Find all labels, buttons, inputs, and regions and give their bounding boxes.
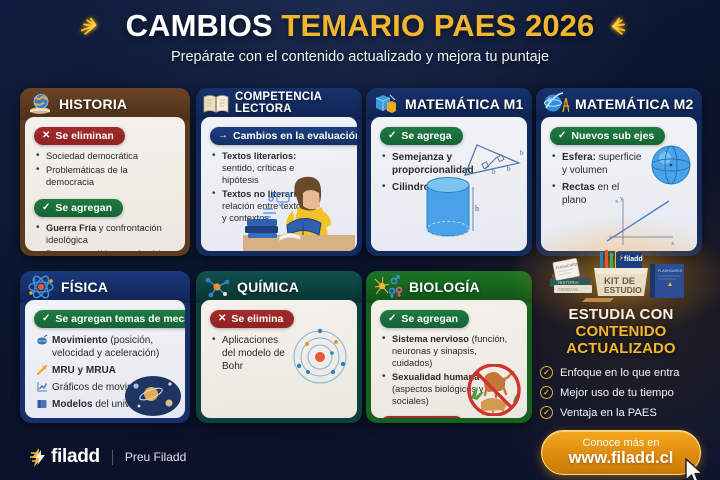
page-subtitle: Prepárate con el contenido actualizado y… xyxy=(0,49,720,65)
card-competencia-lectora[interactable]: COMPETENCIALECTORA → Cambios en la evalu… xyxy=(196,88,362,256)
svg-text:ESTUDIO: ESTUDIO xyxy=(604,285,642,295)
card-header: MATEMÁTICA M2 xyxy=(536,88,702,120)
card-body: ✕ Se elimina Aplicaciones del modelo de … xyxy=(201,300,357,418)
svg-text:CIENCIAS: CIENCIAS xyxy=(558,287,578,292)
title-row: CAMBIOS TEMARIO PAES 2026 xyxy=(0,8,720,44)
bohr-atom-model-illustration xyxy=(291,328,349,386)
chart-icon xyxy=(36,381,48,393)
status-badge-eliminan: ✕ Se eliminan xyxy=(34,127,125,145)
close-icon: ✕ xyxy=(42,131,50,141)
svg-text:HISTORIA: HISTORIA xyxy=(558,280,579,285)
status-badge-elimina: ✕ Se elimina xyxy=(210,310,294,328)
card-body: ✓ Se agregan temas de mecánica Movimient… xyxy=(25,300,185,418)
card-header: HISTORIA xyxy=(20,88,190,120)
card-header: QUÍMICA xyxy=(196,271,362,303)
card-header: MATEMÁTICA M1 xyxy=(366,88,532,120)
close-icon: ✕ xyxy=(218,314,226,324)
footer-note: Preu Filadd xyxy=(125,450,186,464)
card-body: ✕ Se eliminan Sociedad democrática Probl… xyxy=(25,117,185,251)
badge-label: Se elimina xyxy=(231,313,283,325)
globe-book-icon xyxy=(27,92,53,116)
girl-reading-book-illustration xyxy=(243,163,355,251)
badge-label: Se agregan temas de mecánica xyxy=(55,313,185,325)
svg-text:h: h xyxy=(475,204,479,213)
svg-text:FLASHCARDS: FLASHCARDS xyxy=(658,269,683,273)
cylinder-diagram: h xyxy=(417,173,489,247)
benefit-label: Enfoque en lo que entra xyxy=(560,367,679,379)
badge-label: Se eliminan xyxy=(55,130,113,142)
cube-prism-icon xyxy=(373,92,399,116)
list-item: Guerra Fría y confrontación ideológica xyxy=(36,223,177,247)
card-historia[interactable]: HISTORIA ✕ Se eliminan Sociedad democrát… xyxy=(20,88,190,256)
planets-orbit-illustration xyxy=(123,370,183,418)
card-fisica[interactable]: FÍSICA ✓ Se agregan temas de mecánica Mo… xyxy=(20,271,190,423)
svg-text:b: b xyxy=(520,149,524,157)
arrow-right-icon: → xyxy=(218,131,228,141)
filadd-bolt-icon xyxy=(30,448,47,467)
card-title: FÍSICA xyxy=(61,280,108,295)
card-header: FÍSICA xyxy=(20,271,190,303)
list-eliminan: Sociedad democrática Problemáticas de la… xyxy=(36,151,177,189)
card-title: MATEMÁTICA M1 xyxy=(405,97,523,112)
benefit-item: ✓ Enfoque en lo que entra xyxy=(540,366,679,379)
motion-icon xyxy=(36,334,48,346)
svg-text:b: b xyxy=(492,168,496,176)
list-item: Esfera: superficie y volumen xyxy=(552,151,646,177)
status-badge-agrega: ✓ Se agrega xyxy=(380,127,463,145)
badge-label: Se agregan xyxy=(55,202,112,214)
list-item: Aplicaciones del modelo de Bohr xyxy=(212,334,294,373)
atom-icon xyxy=(27,274,55,300)
kit-box-icon: HISTORIA CIENCIAS FLASHCARDS filadd KIT … xyxy=(528,248,714,306)
open-book-icon xyxy=(203,93,229,115)
cta-subtitle: Conoce más en xyxy=(582,438,659,450)
brand-logo-text: filadd xyxy=(51,446,100,468)
card-title: BIOLOGÍA xyxy=(409,280,480,295)
badge-label: Se agregan xyxy=(401,313,458,325)
card-title: QUÍMICA xyxy=(237,280,299,295)
card-body: ✓ Se agregan Sistema nervioso (función, … xyxy=(371,300,527,418)
card-title: COMPETENCIALECTORA xyxy=(235,92,322,116)
benefits-list: ✓ Enfoque en lo que entra ✓ Mejor uso de… xyxy=(528,366,714,419)
status-badge-cambios: → Cambios en la evaluación xyxy=(210,127,357,145)
footer-divider xyxy=(112,450,113,465)
card-title: MATEMÁTICA M2 xyxy=(575,97,693,112)
molecule-icon xyxy=(203,274,231,300)
mouse-cursor-icon xyxy=(684,458,706,480)
page-title-white: CAMBIOS xyxy=(126,8,273,43)
list-item: Movimiento (posición, velocidad y aceler… xyxy=(36,334,177,360)
no-food-chain-illustration xyxy=(465,364,523,416)
card-quimica[interactable]: QUÍMICA ✕ Se elimina Aplicaciones del mo… xyxy=(196,271,362,423)
card-header: COMPETENCIALECTORA xyxy=(196,88,362,120)
check-circle-icon: ✓ xyxy=(540,386,553,399)
card-body: → Cambios en la evaluación Textos litera… xyxy=(201,117,357,251)
sparkle-icon xyxy=(604,8,634,44)
page-header: CAMBIOS TEMARIO PAES 2026 Prepárate con … xyxy=(0,8,720,65)
list-item: Procesos políticos en América Latina xyxy=(36,249,177,251)
sphere-diagram xyxy=(649,143,693,187)
check-circle-icon: ✓ xyxy=(540,366,553,379)
badge-label: Nuevos sub ejes xyxy=(571,130,654,142)
neuron-gender-icon xyxy=(373,274,403,300)
card-title: HISTORIA xyxy=(59,97,127,112)
status-badge-elimina: ✕ Se elimina xyxy=(380,416,464,418)
benefit-label: Ventaja en la PAES xyxy=(560,407,657,419)
svg-text:filadd: filadd xyxy=(624,256,643,263)
page-title: CAMBIOS TEMARIO PAES 2026 xyxy=(126,10,595,43)
cta-url: www.filadd.cl xyxy=(569,449,674,467)
check-circle-icon: ✓ xyxy=(540,406,553,419)
svg-text:x: x xyxy=(615,198,619,205)
sphere-icon xyxy=(543,92,569,116)
status-badge-subejes: ✓ Nuevos sub ejes xyxy=(550,127,665,145)
benefit-item: ✓ Ventaja en la PAES xyxy=(540,406,657,419)
svg-text:b: b xyxy=(507,165,511,173)
benefit-label: Mejor uso de tu tiempo xyxy=(560,387,674,399)
arrow-up-icon xyxy=(36,364,48,376)
check-icon: ✓ xyxy=(388,131,396,141)
promo-section: HISTORIA CIENCIAS FLASHCARDS filadd KIT … xyxy=(528,248,714,475)
check-icon: ✓ xyxy=(558,131,566,141)
check-icon: ✓ xyxy=(388,314,396,324)
list-agregan: Guerra Fría y confrontación ideológica P… xyxy=(36,223,177,251)
brand-logo: filadd xyxy=(30,446,100,468)
status-badge-agregan: ✓ Se agregan xyxy=(34,199,123,217)
status-badge-mecanica: ✓ Se agregan temas de mecánica xyxy=(34,310,185,328)
badge-label: Se agrega xyxy=(401,130,451,142)
benefit-item: ✓ Mejor uso de tu tiempo xyxy=(540,386,674,399)
check-icon: ✓ xyxy=(42,203,50,213)
status-badge-agregan: ✓ Se agregan xyxy=(380,310,469,328)
check-icon: ✓ xyxy=(42,314,50,324)
list-elimina: Aplicaciones del modelo de Bohr xyxy=(212,334,294,373)
cta-button[interactable]: Conoce más en www.filadd.cl xyxy=(541,430,701,475)
badge-label: Cambios en la evaluación xyxy=(233,130,357,142)
footer: filadd Preu Filadd xyxy=(30,446,186,468)
sparkle-icon xyxy=(86,8,116,44)
card-body: ✓ Se agrega Semejanza y proporcionalidad… xyxy=(371,117,527,251)
list-item: Sociedad democrática xyxy=(36,151,177,163)
study-kit-illustration: HISTORIA CIENCIAS FLASHCARDS filadd KIT … xyxy=(528,248,714,304)
book-icon xyxy=(36,398,48,410)
page-title-gold: TEMARIO PAES 2026 xyxy=(281,8,594,43)
list-item: Problemáticas de la democracia xyxy=(36,165,177,189)
